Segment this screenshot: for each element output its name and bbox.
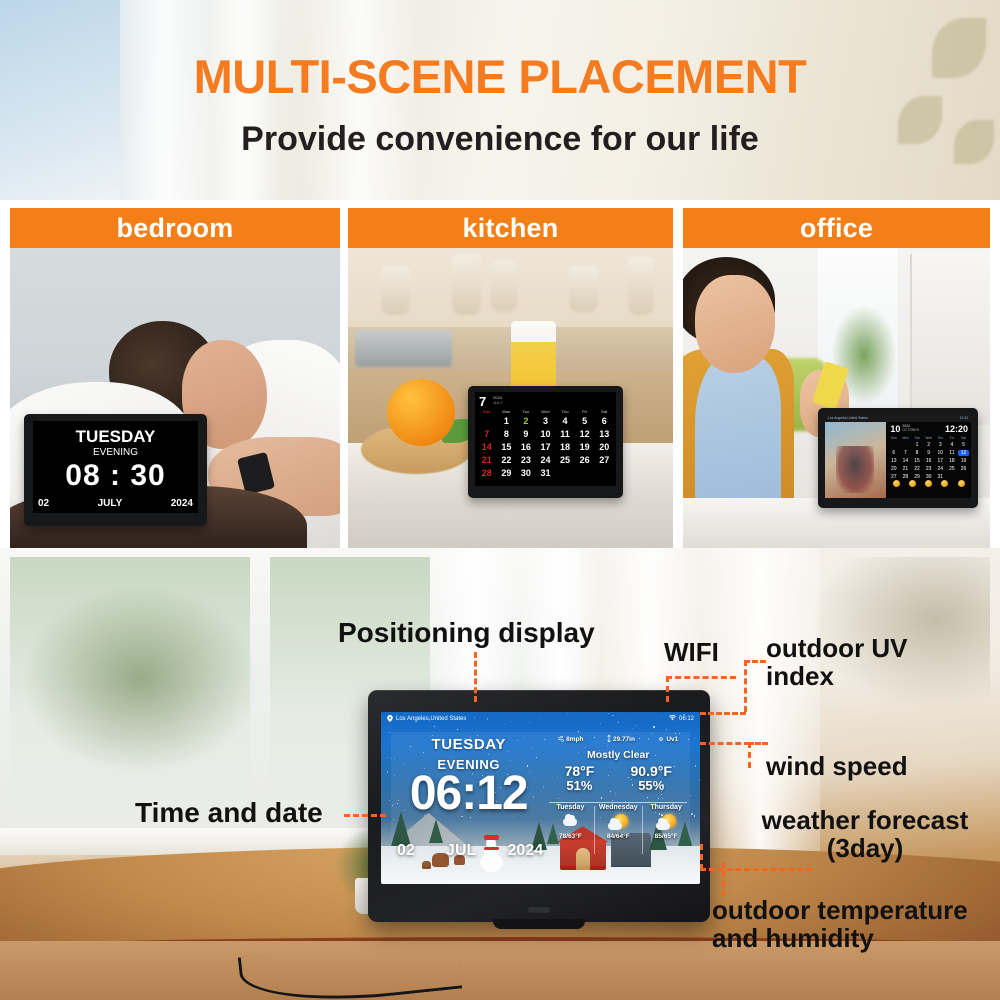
kitchen-day-cell: 12 bbox=[575, 429, 595, 439]
page-title: MULTI-SCENE PLACEMENT bbox=[0, 53, 1000, 100]
sun-icon bbox=[925, 480, 932, 487]
wind-icon bbox=[558, 736, 564, 744]
kitchen-day-cell bbox=[477, 416, 497, 426]
kitchen-day-cell: 2 bbox=[516, 416, 536, 426]
office-forecast-cell bbox=[904, 479, 920, 497]
office-day-cell: 22 bbox=[911, 466, 923, 472]
kitchen-day-cell: 16 bbox=[516, 442, 536, 452]
kitchen-day-cell: 14 bbox=[477, 442, 497, 452]
scene-label-kitchen: kitchen bbox=[348, 208, 673, 248]
leader-uv-v bbox=[744, 660, 747, 712]
product-feature-image: MULTI-SCENE PLACEMENT Provide convenienc… bbox=[0, 0, 1000, 1000]
office-status-time: 12:20 bbox=[960, 416, 969, 420]
location-pin-icon bbox=[387, 715, 393, 724]
scene-office: office Los Angeles,United States 12:20 bbox=[683, 208, 990, 553]
sun-icon bbox=[893, 480, 900, 487]
kitchen-day-cell: 18 bbox=[555, 442, 575, 452]
scene-photo-bedroom: TUESDAY EVENING 08 : 30 02 JULY 2024 bbox=[10, 248, 340, 553]
office-weekday-header: Mon bbox=[900, 436, 912, 440]
office-day-cell: 26 bbox=[958, 466, 970, 472]
scene-label-bedroom: bedroom bbox=[10, 208, 340, 248]
sun-icon bbox=[941, 480, 948, 487]
clock-date-row: 02 JUL 2024 bbox=[397, 842, 543, 860]
partly-sunny-icon bbox=[594, 811, 642, 833]
office-day-cell: 25 bbox=[946, 466, 958, 472]
clock-column: TUESDAY EVENING 06:12 02 JUL 2024 bbox=[391, 732, 546, 866]
office-day-cell: 11 bbox=[946, 450, 958, 456]
kitchen-weekday-header: Sun bbox=[477, 409, 497, 414]
kitchen-day-cell: 5 bbox=[575, 416, 595, 426]
office-photo-pane bbox=[825, 422, 886, 498]
office-forecast-cell bbox=[921, 479, 937, 497]
annotation-temp-line1: outdoor temperature bbox=[712, 896, 968, 924]
device-office-screen: Los Angeles,United States 12:20 10 2024 … bbox=[825, 414, 971, 498]
kitchen-day-cell: 15 bbox=[497, 442, 517, 452]
office-day-cell: 16 bbox=[923, 458, 935, 464]
kitchen-day-cell: 26 bbox=[575, 455, 595, 465]
clock-time: 06:12 bbox=[391, 770, 546, 818]
annotation-outdoor-uv-index: outdoor UV index bbox=[766, 634, 908, 690]
office-weekday-header: Sun bbox=[888, 436, 900, 440]
kitchen-day-grid: 1234567891011121314151617181920212223242… bbox=[477, 416, 614, 478]
home-button[interactable] bbox=[527, 905, 551, 913]
kitchen-weekday-header: Tue bbox=[516, 409, 536, 414]
annotation-wind-speed: wind speed bbox=[766, 752, 908, 780]
office-weekday-header: Sat bbox=[958, 436, 970, 440]
office-day-cell: 15 bbox=[911, 458, 923, 464]
annotation-uv-line2: index bbox=[766, 662, 908, 690]
kitchen-month-number: 7 bbox=[479, 394, 486, 409]
reading-outdoor-humidity: 55% bbox=[631, 779, 672, 793]
reading-indoor: 78°F 51% bbox=[565, 764, 595, 793]
office-forecast-cell bbox=[953, 479, 969, 497]
device-main: Los Angeles,United States 06:12 TUESDAY … bbox=[368, 690, 710, 922]
leader-wind-h bbox=[700, 742, 750, 745]
office-statusbar: Los Angeles,United States 12:20 bbox=[825, 414, 971, 422]
kitchen-weekday-headers: SunMonTueWedThuFriSat bbox=[477, 409, 614, 414]
device-office: Los Angeles,United States 12:20 10 2024 … bbox=[818, 408, 978, 508]
kitchen-day-cell: 8 bbox=[497, 429, 517, 439]
forecast-temps: 84/64°F bbox=[594, 833, 642, 840]
bedroom-time: 08 : 30 bbox=[33, 459, 198, 493]
office-day-cell: 5 bbox=[958, 442, 970, 448]
kitchen-weekday-header: Thu bbox=[555, 409, 575, 414]
office-month-name: OCTOBER bbox=[902, 428, 919, 432]
status-location: Los Angeles,United States bbox=[396, 716, 466, 722]
office-forecast-row bbox=[888, 479, 969, 497]
office-day-cell: 21 bbox=[900, 466, 912, 472]
office-weekday-header: Fri bbox=[946, 436, 958, 440]
kitchen-day-cell bbox=[555, 468, 575, 478]
office-calendar-pane: 10 2024 OCTOBER 12:20 SunMonTueWedThuFri… bbox=[886, 422, 971, 498]
kitchen-day-cell: 29 bbox=[497, 468, 517, 478]
kitchen-day-cell: 28 bbox=[477, 468, 497, 478]
forecast-cell: Tuesday78/63°F bbox=[546, 804, 594, 862]
office-day-cell: 14 bbox=[900, 458, 912, 464]
annotation-outdoor-temp-humidity: outdoor temperature and humidity bbox=[712, 896, 968, 952]
partly-sunny-icon bbox=[642, 811, 690, 833]
kitchen-day-cell: 10 bbox=[536, 429, 556, 439]
office-day-cell: 7 bbox=[900, 450, 912, 456]
leader-wifi-h bbox=[666, 676, 736, 679]
office-clock: 12:20 bbox=[945, 424, 968, 434]
scene-photo-kitchen: 7 2024 JULY SunMonTueWedThuFriSat 123456… bbox=[348, 248, 673, 553]
office-day-cell: 23 bbox=[923, 466, 935, 472]
kitchen-day-cell: 9 bbox=[516, 429, 536, 439]
forecast-cell: Wednesday84/64°F bbox=[594, 804, 642, 862]
office-day-cell: 20 bbox=[888, 466, 900, 472]
bedroom-date-row: 02 JULY 2024 bbox=[33, 498, 198, 509]
device-bedroom-screen: TUESDAY EVENING 08 : 30 02 JULY 2024 bbox=[33, 421, 198, 513]
forecast-cell: Thursday85/65°F bbox=[642, 804, 690, 862]
office-weekday-header: Tue bbox=[911, 436, 923, 440]
forecast-day: Thursday bbox=[642, 804, 690, 811]
leader-forecast-h bbox=[700, 868, 812, 871]
kitchen-weekday-header: Sat bbox=[594, 409, 614, 414]
reading-indoor-temp: 78°F bbox=[565, 764, 595, 779]
office-status-location: Los Angeles,United States bbox=[828, 416, 868, 420]
kitchen-day-cell: 22 bbox=[497, 455, 517, 465]
forecast-temps: 85/65°F bbox=[642, 833, 690, 840]
clock-weekday: TUESDAY bbox=[391, 736, 546, 753]
office-day-cell bbox=[900, 442, 912, 448]
kitchen-day-cell: 4 bbox=[555, 416, 575, 426]
office-day-cell: 9 bbox=[923, 450, 935, 456]
leader-temp-humidity bbox=[722, 862, 725, 896]
office-day-cell: 19 bbox=[958, 458, 970, 464]
bedroom-weekday: TUESDAY bbox=[33, 427, 198, 447]
metric-value: 29.77in bbox=[613, 736, 635, 743]
office-weekday-header: Wed bbox=[923, 436, 935, 440]
status-bar: Los Angeles,United States 06:12 bbox=[381, 712, 700, 726]
weather-condition: Mostly Clear bbox=[546, 749, 690, 761]
kitchen-day-cell: 23 bbox=[516, 455, 536, 465]
office-day-cell: 3 bbox=[934, 442, 946, 448]
kitchen-calendar: 7 2024 JULY SunMonTueWedThuFriSat 123456… bbox=[475, 392, 616, 486]
weather-metrics: 8mph29.77inUv1 bbox=[546, 735, 690, 744]
office-day-cell: 17 bbox=[934, 458, 946, 464]
office-day-cell: 8 bbox=[911, 450, 923, 456]
kitchen-day-cell: 31 bbox=[536, 468, 556, 478]
kitchen-day-cell: 1 bbox=[497, 416, 517, 426]
kitchen-day-cell: 20 bbox=[594, 442, 614, 452]
office-day-cell: 12 bbox=[958, 450, 970, 456]
office-day-cell: 13 bbox=[888, 458, 900, 464]
office-day-grid: 1234567891011121314151617181920212223242… bbox=[888, 442, 969, 480]
clock-month: JUL bbox=[446, 842, 476, 860]
office-day-cell: 4 bbox=[946, 442, 958, 448]
bedroom-year: 2024 bbox=[171, 498, 193, 509]
annotation-forecast-line2: (3day) bbox=[740, 834, 990, 862]
office-day-cell: 10 bbox=[934, 450, 946, 456]
office-month-number: 10 bbox=[890, 424, 900, 434]
device-kitchen: 7 2024 JULY SunMonTueWedThuFriSat 123456… bbox=[468, 386, 623, 498]
leader-wifi-v bbox=[666, 676, 669, 702]
pressure-icon bbox=[607, 735, 611, 744]
scene-label-office: office bbox=[683, 208, 990, 248]
weather-column: 8mph29.77inUv1 Mostly Clear 78°F 51% 90.… bbox=[546, 732, 690, 866]
leader-forecast-v bbox=[700, 844, 703, 870]
leader-wind-h2 bbox=[748, 742, 768, 745]
wifi-icon bbox=[669, 715, 676, 723]
annotation-temp-line2: and humidity bbox=[712, 924, 968, 952]
metric-uv: Uv1 bbox=[658, 735, 678, 744]
office-forecast-cell bbox=[937, 479, 953, 497]
annotation-wifi: WIFI bbox=[664, 638, 719, 666]
kitchen-day-cell: 11 bbox=[555, 429, 575, 439]
kitchen-day-cell: 30 bbox=[516, 468, 536, 478]
bedroom-day: 02 bbox=[38, 498, 49, 509]
forecast-day: Wednesday bbox=[594, 804, 642, 811]
leader-uv-top bbox=[744, 660, 766, 663]
annotation-positioning-display: Positioning display bbox=[338, 618, 595, 648]
kitchen-weekday-header: Wed bbox=[536, 409, 556, 414]
kitchen-day-cell: 3 bbox=[536, 416, 556, 426]
kitchen-day-cell: 6 bbox=[594, 416, 614, 426]
device-main-screen: Los Angeles,United States 06:12 TUESDAY … bbox=[381, 712, 700, 884]
bedroom-period: EVENING bbox=[33, 447, 198, 458]
kitchen-month-name: JULY bbox=[493, 400, 502, 405]
sun-icon bbox=[909, 480, 916, 487]
office-forecast-cell bbox=[888, 479, 904, 497]
clock-year: 2024 bbox=[508, 842, 544, 860]
office-day-cell: 2 bbox=[923, 442, 935, 448]
kitchen-weekday-header: Fri bbox=[575, 409, 595, 414]
metric-value: Uv1 bbox=[666, 736, 678, 743]
forecast-day: Tuesday bbox=[546, 804, 594, 811]
cloudy-icon bbox=[546, 811, 594, 833]
header-sky bbox=[0, 0, 120, 200]
kitchen-day-cell bbox=[594, 468, 614, 478]
metric-pressure: 29.77in bbox=[607, 735, 635, 744]
office-day-cell bbox=[888, 442, 900, 448]
reading-indoor-humidity: 51% bbox=[565, 779, 595, 793]
status-time: 06:12 bbox=[679, 716, 694, 722]
kitchen-day-cell bbox=[575, 468, 595, 478]
office-weekday-headers: SunMonTueWedThuFriSat bbox=[888, 436, 969, 440]
leader-time-date bbox=[344, 814, 386, 817]
annotation-weather-forecast: weather forecast (3day) bbox=[740, 806, 990, 862]
office-day-cell: 6 bbox=[888, 450, 900, 456]
leader-positioning-display bbox=[474, 652, 477, 702]
main-panel: TUESDAY EVENING 06:12 02 JUL 2024 8mph29… bbox=[391, 732, 690, 866]
reading-outdoor: 90.9°F 55% bbox=[631, 764, 672, 793]
uv-icon bbox=[658, 736, 664, 744]
kitchen-day-cell: 21 bbox=[477, 455, 497, 465]
kitchen-day-cell: 17 bbox=[536, 442, 556, 452]
bedroom-month: JULY bbox=[98, 498, 123, 509]
kitchen-day-cell: 13 bbox=[594, 429, 614, 439]
leader-wind-v bbox=[748, 742, 751, 768]
kitchen-day-cell: 7 bbox=[477, 429, 497, 439]
device-stand bbox=[493, 919, 585, 929]
office-day-cell: 24 bbox=[934, 466, 946, 472]
clock-day: 02 bbox=[397, 842, 415, 860]
forecast-row: Tuesday78/63°FWednesday84/64°FThursday85… bbox=[546, 804, 690, 862]
leader-uv-h bbox=[700, 712, 746, 715]
office-day-cell: 1 bbox=[911, 442, 923, 448]
weather-readings: 78°F 51% 90.9°F 55% bbox=[546, 764, 690, 793]
kitchen-day-cell: 25 bbox=[555, 455, 575, 465]
scene-kitchen: kitchen 7 2024 JULY S bbox=[348, 208, 673, 553]
kitchen-day-cell: 27 bbox=[594, 455, 614, 465]
metric-wind: 8mph bbox=[558, 735, 583, 744]
annotation-time-and-date: Time and date bbox=[135, 798, 323, 828]
annotation-uv-line1: outdoor UV bbox=[766, 634, 908, 662]
forecast-temps: 78/63°F bbox=[546, 833, 594, 840]
annotation-forecast-line1: weather forecast bbox=[740, 806, 990, 834]
kitchen-day-cell: 24 bbox=[536, 455, 556, 465]
sun-icon bbox=[958, 480, 965, 487]
scene-bedroom: bedroom TUESDAY EVENING 08 : 30 02 JULY bbox=[10, 208, 340, 553]
office-weekday-header: Thu bbox=[934, 436, 946, 440]
page-subtitle: Provide convenience for our life bbox=[0, 122, 1000, 156]
reading-outdoor-temp: 90.9°F bbox=[631, 764, 672, 779]
device-bedroom: TUESDAY EVENING 08 : 30 02 JULY 2024 bbox=[24, 414, 207, 526]
kitchen-day-cell: 19 bbox=[575, 442, 595, 452]
metric-value: 8mph bbox=[566, 736, 583, 743]
device-kitchen-screen: 7 2024 JULY SunMonTueWedThuFriSat 123456… bbox=[475, 392, 616, 486]
scene-photo-office: Los Angeles,United States 12:20 10 2024 … bbox=[683, 248, 990, 553]
kitchen-weekday-header: Mon bbox=[497, 409, 517, 414]
office-day-cell: 18 bbox=[946, 458, 958, 464]
